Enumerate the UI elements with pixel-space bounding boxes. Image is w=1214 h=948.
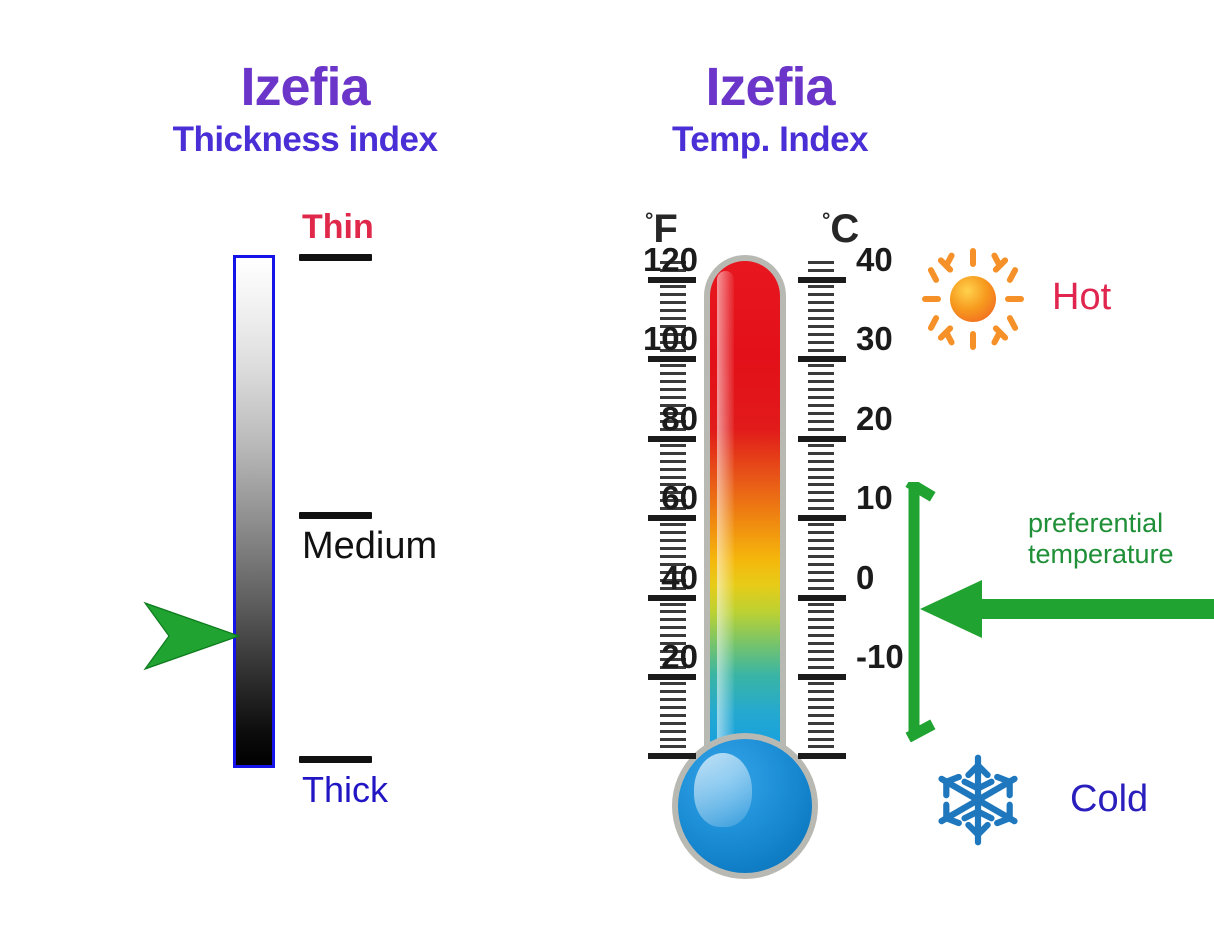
scale-major-tick xyxy=(798,356,846,362)
scale-minor-tick xyxy=(808,372,834,375)
green-arrow-marker[interactable] xyxy=(143,600,243,672)
unit-c: C xyxy=(830,207,859,251)
scale-minor-tick xyxy=(808,603,834,606)
scale-minor-tick xyxy=(808,722,834,725)
scale-minor-tick xyxy=(808,666,834,669)
bulb-highlight xyxy=(694,753,752,827)
scale-label: -10 xyxy=(856,640,904,673)
tick-thin xyxy=(299,254,372,261)
tube-highlight xyxy=(717,271,734,771)
scale-minor-tick xyxy=(808,682,834,685)
thermometer-tube xyxy=(704,255,786,780)
label-thick: Thick xyxy=(302,772,388,808)
scale-minor-tick xyxy=(808,428,834,431)
scale-minor-tick xyxy=(808,285,834,288)
label-thin: Thin xyxy=(302,210,374,244)
scale-minor-tick xyxy=(808,650,834,653)
scale-minor-tick xyxy=(808,317,834,320)
preferential-line-1: preferential xyxy=(1028,508,1174,539)
scale-minor-tick xyxy=(808,293,834,296)
scale-minor-tick xyxy=(808,563,834,566)
scale-minor-tick xyxy=(808,730,834,733)
scale-minor-tick xyxy=(808,658,834,661)
scale-minor-tick xyxy=(808,325,834,328)
right-panel-subtitle: Temp. Index xyxy=(590,122,950,157)
scale-minor-tick xyxy=(808,618,834,621)
left-panel-subtitle: Thickness index xyxy=(70,122,540,157)
sun-core xyxy=(950,276,996,322)
sun-icon xyxy=(922,248,1024,350)
scale-minor-tick xyxy=(808,333,834,336)
scale-minor-tick xyxy=(808,499,834,502)
snowflake-icon xyxy=(930,752,1026,848)
scale-minor-tick xyxy=(808,523,834,526)
scale-minor-tick xyxy=(808,555,834,558)
left-panel: Izefia Thickness index Thin Medium Thick xyxy=(70,40,540,900)
scale-label: 0 xyxy=(856,561,874,594)
hot-indicator: Hot xyxy=(922,248,1212,358)
green-left-arrow xyxy=(920,578,1214,640)
scale-label: 20 xyxy=(856,402,893,435)
scale-major-tick xyxy=(798,277,846,283)
scale-minor-tick xyxy=(808,587,834,590)
preferential-line-2: temperature xyxy=(1028,539,1174,570)
scale-minor-tick xyxy=(808,404,834,407)
scale-minor-tick xyxy=(808,610,834,613)
scale-minor-tick xyxy=(808,507,834,510)
thermometer-fluid xyxy=(710,261,780,785)
scale-label: 10 xyxy=(856,481,893,514)
scale-minor-tick xyxy=(808,491,834,494)
scale-minor-tick xyxy=(808,634,834,637)
poster-canvas: Izefia Thickness index Thin Medium Thick… xyxy=(0,0,1214,948)
thickness-index-gradient-bar[interactable] xyxy=(233,255,275,768)
scale-minor-tick xyxy=(808,547,834,550)
scale-minor-tick xyxy=(808,642,834,645)
right-panel-title: Izefia xyxy=(590,60,950,114)
scale-label: 20 xyxy=(661,640,698,673)
scale-minor-tick xyxy=(808,483,834,486)
scale-label: 40 xyxy=(856,243,893,276)
scale-minor-tick xyxy=(808,269,834,272)
scale-minor-tick xyxy=(808,460,834,463)
thermometer[interactable]: °F °C 12010080604020 403020 xyxy=(600,195,930,885)
tick-thick xyxy=(299,756,372,763)
left-panel-title: Izefia xyxy=(70,60,540,114)
scale-minor-tick xyxy=(808,706,834,709)
scale-minor-tick xyxy=(808,412,834,415)
scale-minor-tick xyxy=(808,468,834,471)
scale-minor-tick xyxy=(808,388,834,391)
scale-minor-tick xyxy=(808,476,834,479)
green-arrow-icon xyxy=(143,600,243,672)
scale-major-tick xyxy=(798,595,846,601)
scale-minor-tick xyxy=(808,349,834,352)
scale-minor-tick xyxy=(808,420,834,423)
scale-major-tick xyxy=(798,436,846,442)
scale-label: 100 xyxy=(643,322,698,355)
scale-minor-tick xyxy=(808,301,834,304)
right-panel: Izefia Temp. Index °F °C xyxy=(600,40,1214,920)
label-cold: Cold xyxy=(1070,780,1148,818)
scale-minor-tick xyxy=(808,626,834,629)
preferential-text: preferential temperature xyxy=(1028,508,1174,571)
scale-minor-tick xyxy=(808,341,834,344)
celsius-unit-label: °C xyxy=(822,209,859,249)
scale-label: 60 xyxy=(661,481,698,514)
tick-medium xyxy=(299,512,372,519)
scale-major-tick xyxy=(798,515,846,521)
fahrenheit-scale-labels: 12010080604020 xyxy=(600,255,702,775)
cold-indicator: Cold xyxy=(930,752,1214,862)
scale-end-tick xyxy=(798,753,846,759)
scale-minor-tick xyxy=(808,452,834,455)
celsius-scale xyxy=(792,255,854,775)
scale-minor-tick xyxy=(808,444,834,447)
scale-minor-tick xyxy=(808,309,834,312)
scale-minor-tick xyxy=(808,364,834,367)
scale-minor-tick xyxy=(808,738,834,741)
scale-minor-tick xyxy=(808,396,834,399)
scale-label: 30 xyxy=(856,322,893,355)
scale-minor-tick xyxy=(808,745,834,748)
scale-major-tick xyxy=(798,674,846,680)
scale-minor-tick xyxy=(808,380,834,383)
scale-minor-tick xyxy=(808,539,834,542)
label-hot: Hot xyxy=(1052,278,1111,316)
scale-minor-tick xyxy=(808,261,834,264)
scale-minor-tick xyxy=(808,698,834,701)
scale-minor-tick xyxy=(808,571,834,574)
scale-label: 80 xyxy=(661,402,698,435)
scale-minor-tick xyxy=(808,714,834,717)
scale-label: 40 xyxy=(661,561,698,594)
preferential-temperature-annotation: preferential temperature xyxy=(900,470,1214,760)
scale-minor-tick xyxy=(808,531,834,534)
scale-minor-tick xyxy=(808,579,834,582)
scale-minor-tick xyxy=(808,690,834,693)
label-medium: Medium xyxy=(302,527,437,565)
scale-label: 120 xyxy=(643,243,698,276)
